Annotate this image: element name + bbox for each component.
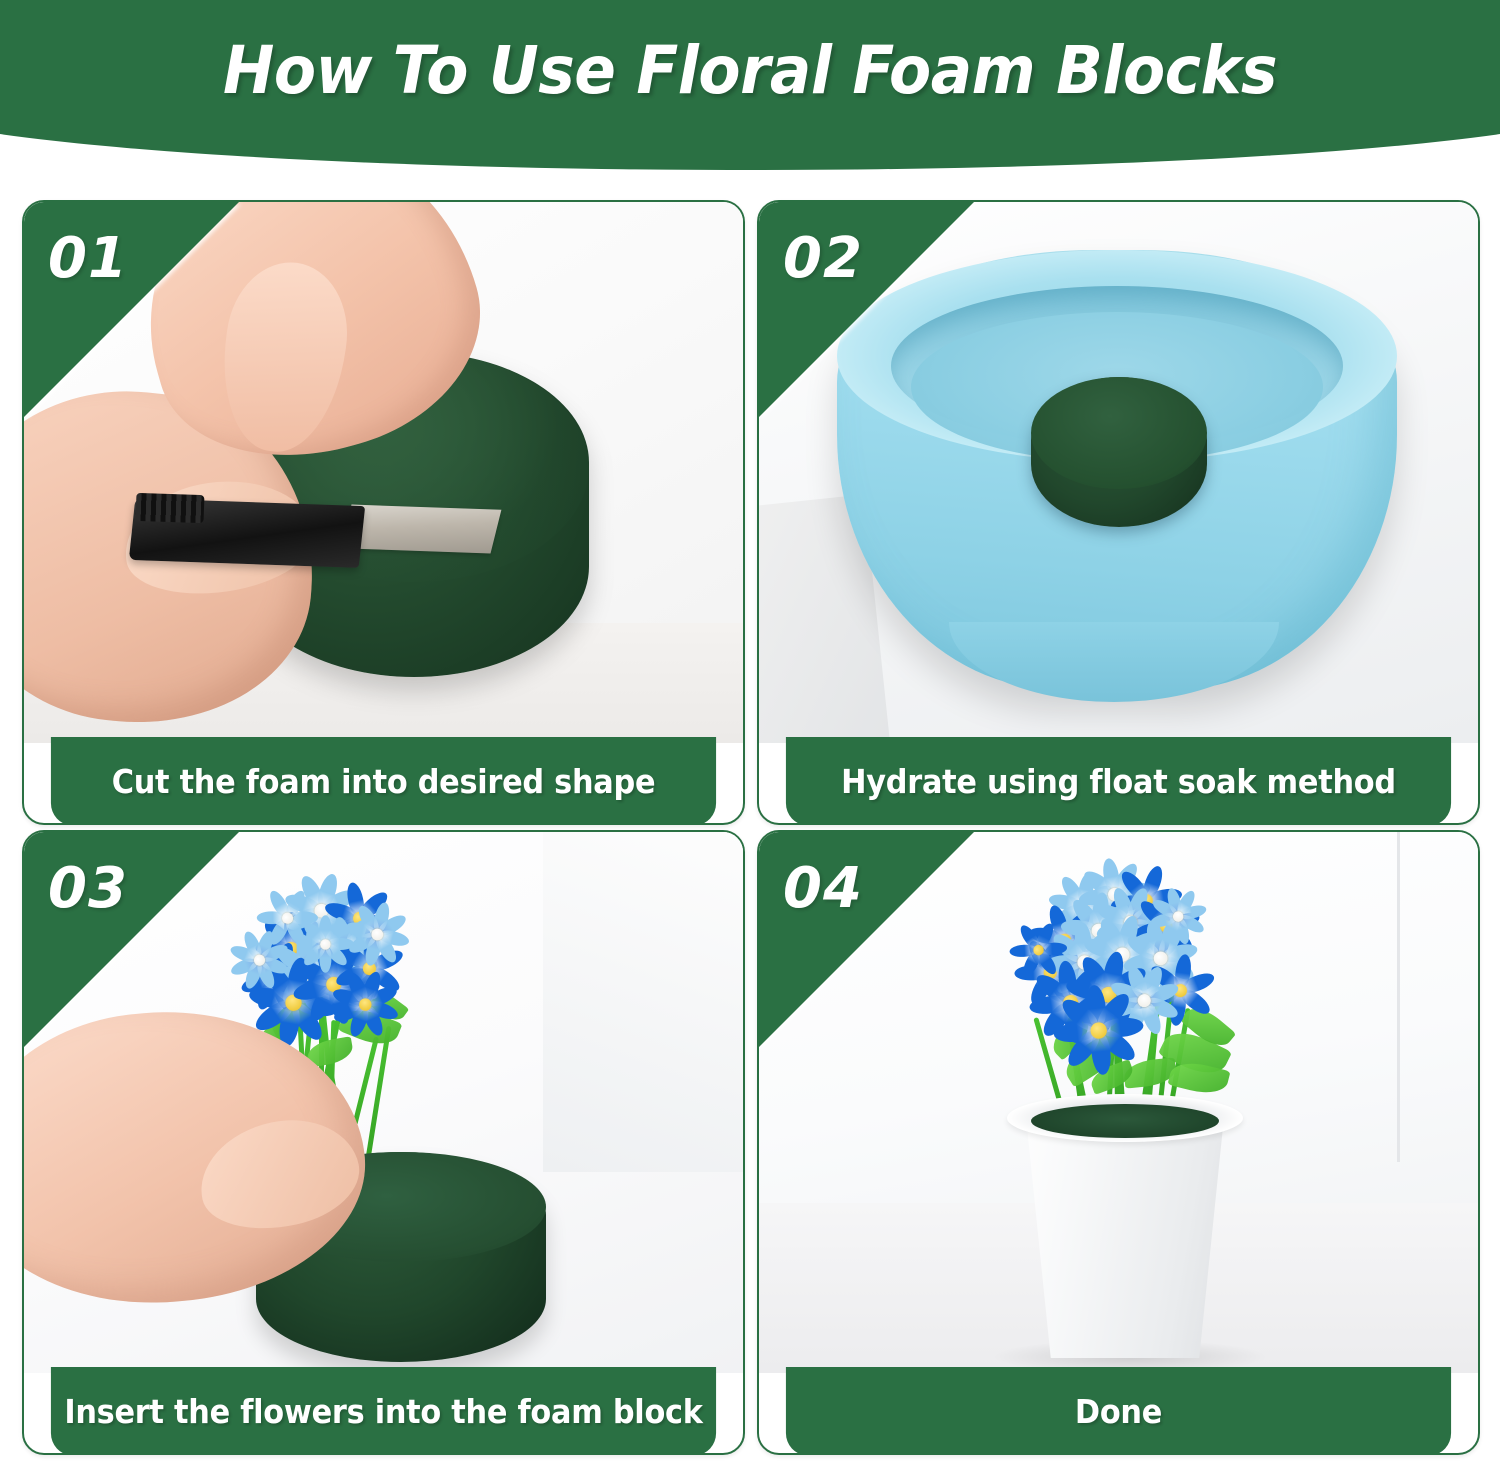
step-panel-04[interactable]: 04 Done [757, 830, 1480, 1455]
scene-cut-foam [24, 202, 743, 743]
step-photo-02: 02 [759, 202, 1478, 743]
page-header: How To Use Floral Foam Blocks [0, 0, 1500, 172]
step-caption-01: Cut the foam into desired shape [51, 737, 716, 825]
step-caption-03: Insert the flowers into the foam block [51, 1367, 716, 1455]
step-panel-02[interactable]: 02 Hydrate using float soak method [757, 200, 1480, 825]
step-photo-04: 04 [759, 832, 1478, 1373]
step-panel-01[interactable]: 01 Cut the foam into desired shape [22, 200, 745, 825]
foam-in-pot [1031, 1104, 1219, 1138]
step-photo-03: 03 [24, 832, 743, 1373]
wall-corner [543, 832, 743, 1172]
infographic-page: How To Use Floral Foam Blocks [0, 0, 1500, 1477]
step-panel-03[interactable]: 03 Insert the flowers into the foam bloc… [22, 830, 745, 1455]
scene-float-soak [759, 202, 1478, 743]
step-photo-01: 01 [24, 202, 743, 743]
page-title: How To Use Floral Foam Blocks [53, 0, 1448, 140]
foam-disc-top-face [1031, 377, 1207, 489]
wall-corner [1397, 832, 1400, 1162]
flower-center [320, 939, 330, 949]
step-caption-02: Hydrate using float soak method [786, 737, 1451, 825]
knife-grip-ridges [136, 493, 205, 523]
steps-grid: 01 Cut the foam into desired shape [22, 200, 1480, 1455]
scene-finished-arrangement [759, 832, 1478, 1373]
knife-blade [341, 505, 502, 554]
scene-insert-flowers [24, 832, 743, 1373]
step-caption-04: Done [786, 1367, 1451, 1455]
